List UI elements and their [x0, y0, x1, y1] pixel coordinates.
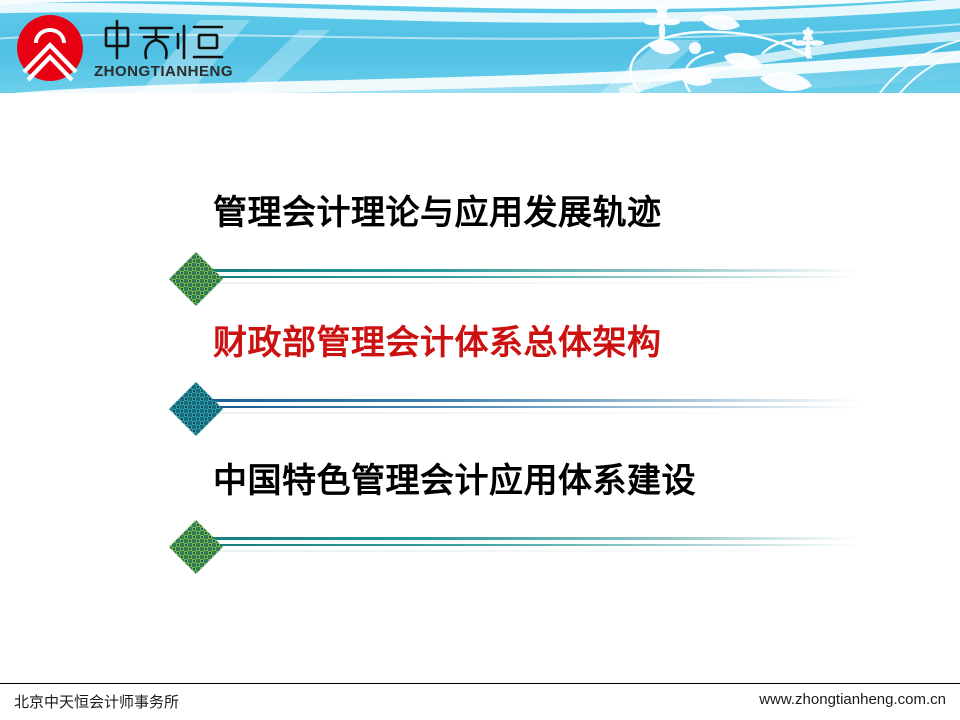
green-diamond-bullet-icon — [168, 519, 224, 575]
footer-company-name: 北京中天恒会计师事务所 — [14, 691, 179, 712]
logo-text: ZHONGTIANHENG — [94, 18, 233, 79]
zhongtianheng-logo-mark-icon — [14, 12, 86, 84]
divider-line-bottom — [200, 544, 860, 546]
agenda-item-3[interactable]: 中国特色管理会计应用体系建设 — [0, 361, 960, 541]
agenda-item-3-label: 中国特色管理会计应用体系建设 — [213, 463, 696, 500]
footer-website[interactable]: www.zhongtianheng.com.cn — [759, 691, 946, 708]
logo[interactable]: ZHONGTIANHENG — [14, 10, 224, 86]
green-diamond-bullet-icon — [168, 251, 224, 307]
footer-divider — [0, 683, 960, 684]
agenda-list: 管理会计理论与应用发展轨迹 — [0, 93, 960, 683]
agenda-item-2-label: 财政部管理会计体系总体架构 — [213, 325, 662, 362]
teal-diamond-bullet-icon — [168, 381, 224, 437]
header-banner: ZHONGTIANHENG — [0, 0, 960, 93]
agenda-item-3-divider — [168, 519, 868, 549]
slide: ZHONGTIANHENG 管理会计理论与应用发展轨迹 — [0, 0, 960, 720]
divider-line-top — [200, 537, 860, 540]
logo-pinyin: ZHONGTIANHENG — [94, 64, 233, 79]
divider-line-faint — [200, 550, 860, 552]
logo-chinese-name-icon — [98, 18, 230, 62]
